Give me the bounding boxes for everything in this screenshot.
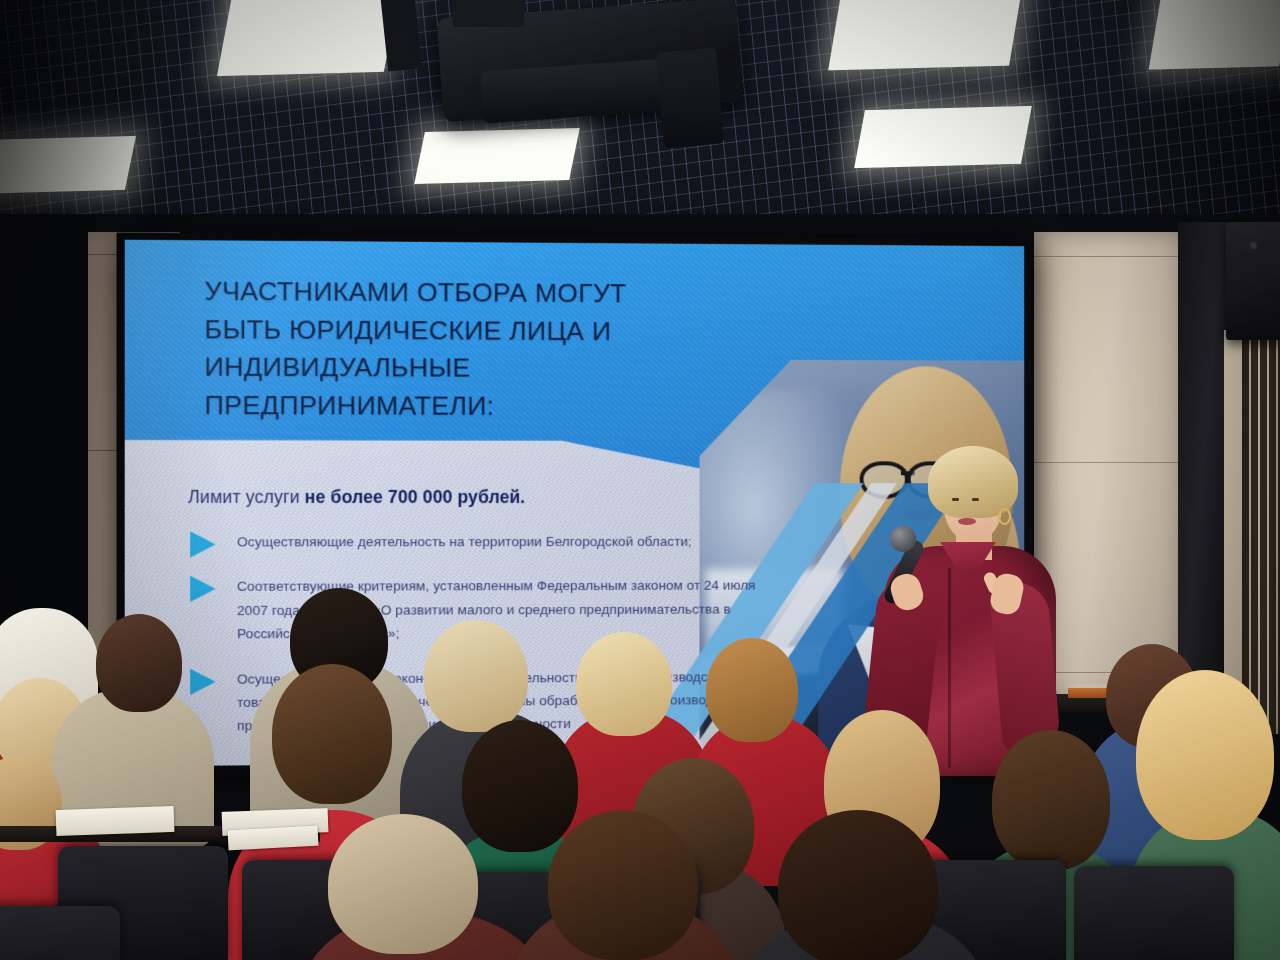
projector-mount-arm [380, 0, 422, 72]
limit-value: не более 700 000 рублей. [305, 487, 526, 507]
wall-loudspeaker [1226, 222, 1280, 340]
slide-title-line: БЫТЬ ЮРИДИЧЕСКИЕ ЛИЦА И [204, 311, 766, 351]
attendee-head [778, 810, 938, 960]
microphone-head [890, 526, 916, 552]
attendee-head [424, 620, 528, 732]
attendee-head [96, 614, 182, 712]
slide-bullet: Осуществляющие деятельность на территори… [188, 530, 777, 554]
attendee-head [462, 720, 578, 852]
chair [0, 906, 120, 960]
ceiling-light-panel [414, 128, 580, 184]
presenter-eye [972, 498, 979, 501]
projector-mount-bracket [656, 48, 724, 149]
slide-bullet-text: Осуществляющие деятельность на территори… [237, 534, 692, 550]
audience [0, 560, 1280, 960]
slide-title: УЧАСТНИКАМИ ОТБОРА МОГУТ БЫТЬ ЮРИДИЧЕСКИ… [204, 273, 766, 426]
attendee-head [328, 814, 478, 954]
slide-limit-line: Лимит услуги не более 700 000 рублей. [188, 487, 777, 508]
ceiling-light-panel [854, 106, 1032, 168]
loudspeaker-led [1250, 242, 1257, 249]
handout-paper [56, 806, 175, 836]
presenter-earring [998, 508, 1011, 525]
ceiling-light-panel [828, 0, 1024, 70]
slide-title-line: УЧАСТНИКАМИ ОТБОРА МОГУТ [204, 273, 766, 314]
attendee-head [576, 632, 672, 736]
limit-prefix: Лимит услуги [188, 487, 305, 507]
attendee-head [1136, 670, 1274, 840]
chair [1074, 866, 1234, 960]
presenter-eye [952, 498, 959, 501]
triangle-bullet-icon [190, 531, 216, 557]
attendee-head [272, 664, 392, 804]
attendee-head [992, 730, 1110, 870]
attendee-head [706, 638, 798, 742]
attendee-head [548, 810, 698, 960]
slide-title-line: ПРЕДПРИНИМАТЕЛИ: [204, 387, 766, 426]
slide-title-line: ИНДИВИДУАЛЬНЫЕ [204, 349, 766, 389]
presenter-lips [958, 518, 976, 525]
conference-room-photo: УЧАСТНИКАМИ ОТБОРА МОГУТ БЫТЬ ЮРИДИЧЕСКИ… [0, 0, 1280, 960]
